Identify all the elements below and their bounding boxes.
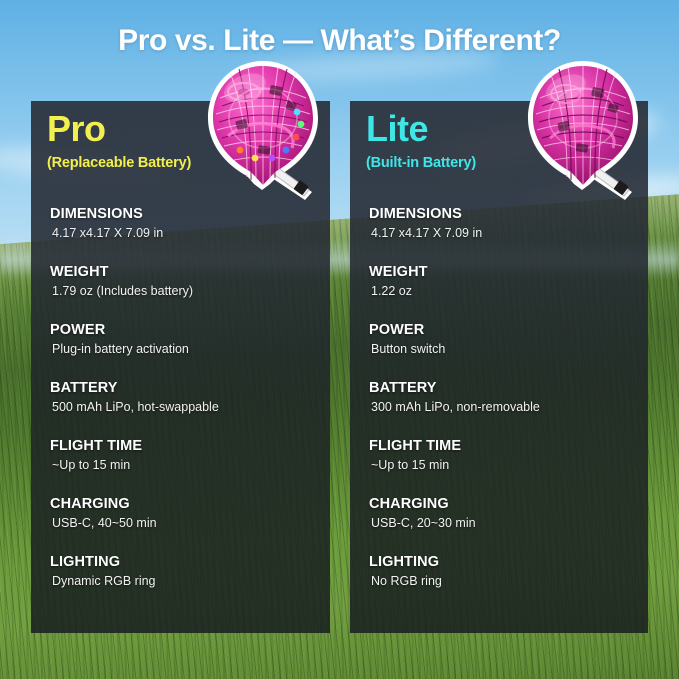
product-image-pro <box>200 58 326 206</box>
spec-value: 1.79 oz (Includes battery) <box>50 283 322 300</box>
spec-row: LIGHTING No RGB ring <box>369 554 640 590</box>
spec-label: WEIGHT <box>369 264 640 281</box>
card-subtitle-pro: (Replaceable Battery) <box>47 155 191 171</box>
spec-list-lite: DIMENSIONS 4.17 x4.17 X 7.09 in WEIGHT 1… <box>369 206 640 612</box>
spec-value: 1.22 oz <box>369 283 640 300</box>
drone-orb <box>213 66 313 185</box>
product-image-lite <box>520 58 646 206</box>
card-subtitle-lite: (Built-in Battery) <box>366 155 476 171</box>
spec-label: POWER <box>50 322 322 339</box>
spec-value: Plug-in battery activation <box>50 341 322 358</box>
spec-value: 500 mAh LiPo, hot-swappable <box>50 399 322 416</box>
card-title-lite: Lite <box>366 111 428 147</box>
page-title: Pro vs. Lite — What’s Different? <box>0 24 679 58</box>
spec-row: POWER Button switch <box>369 322 640 358</box>
spec-value: Button switch <box>369 341 640 358</box>
spec-row: DIMENSIONS 4.17 x4.17 X 7.09 in <box>50 206 322 242</box>
spec-label: DIMENSIONS <box>369 206 640 223</box>
spec-value: 4.17 x4.17 X 7.09 in <box>50 225 322 242</box>
spec-label: FLIGHT TIME <box>50 438 322 455</box>
spec-label: CHARGING <box>369 496 640 513</box>
spec-value: USB-C, 40~50 min <box>50 515 322 532</box>
spec-label: FLIGHT TIME <box>369 438 640 455</box>
spec-list-pro: DIMENSIONS 4.17 x4.17 X 7.09 in WEIGHT 1… <box>50 206 322 612</box>
spec-label: DIMENSIONS <box>50 206 322 223</box>
spec-row: BATTERY 300 mAh LiPo, non-removable <box>369 380 640 416</box>
spec-value: Dynamic RGB ring <box>50 573 322 590</box>
card-title-pro: Pro <box>47 111 106 147</box>
spec-value: 4.17 x4.17 X 7.09 in <box>369 225 640 242</box>
drone-orb <box>533 66 633 185</box>
spec-row: FLIGHT TIME ~Up to 15 min <box>50 438 322 474</box>
spec-row: BATTERY 500 mAh LiPo, hot-swappable <box>50 380 322 416</box>
spec-row: POWER Plug-in battery activation <box>50 322 322 358</box>
spec-label: LIGHTING <box>369 554 640 571</box>
spec-value: USB-C, 20~30 min <box>369 515 640 532</box>
spec-value: 300 mAh LiPo, non-removable <box>369 399 640 416</box>
spec-row: LIGHTING Dynamic RGB ring <box>50 554 322 590</box>
spec-row: DIMENSIONS 4.17 x4.17 X 7.09 in <box>369 206 640 242</box>
spec-row: WEIGHT 1.79 oz (Includes battery) <box>50 264 322 300</box>
infographic-stage: Pro vs. Lite — What’s Different? Pro (Re… <box>0 0 679 679</box>
spec-label: WEIGHT <box>50 264 322 281</box>
spec-row: FLIGHT TIME ~Up to 15 min <box>369 438 640 474</box>
spec-row: CHARGING USB-C, 20~30 min <box>369 496 640 532</box>
spec-row: WEIGHT 1.22 oz <box>369 264 640 300</box>
spec-label: BATTERY <box>369 380 640 397</box>
spec-value: ~Up to 15 min <box>369 457 640 474</box>
spec-label: CHARGING <box>50 496 322 513</box>
spec-label: BATTERY <box>50 380 322 397</box>
spec-row: CHARGING USB-C, 40~50 min <box>50 496 322 532</box>
spec-label: POWER <box>369 322 640 339</box>
spec-label: LIGHTING <box>50 554 322 571</box>
spec-value: No RGB ring <box>369 573 640 590</box>
spec-value: ~Up to 15 min <box>50 457 322 474</box>
